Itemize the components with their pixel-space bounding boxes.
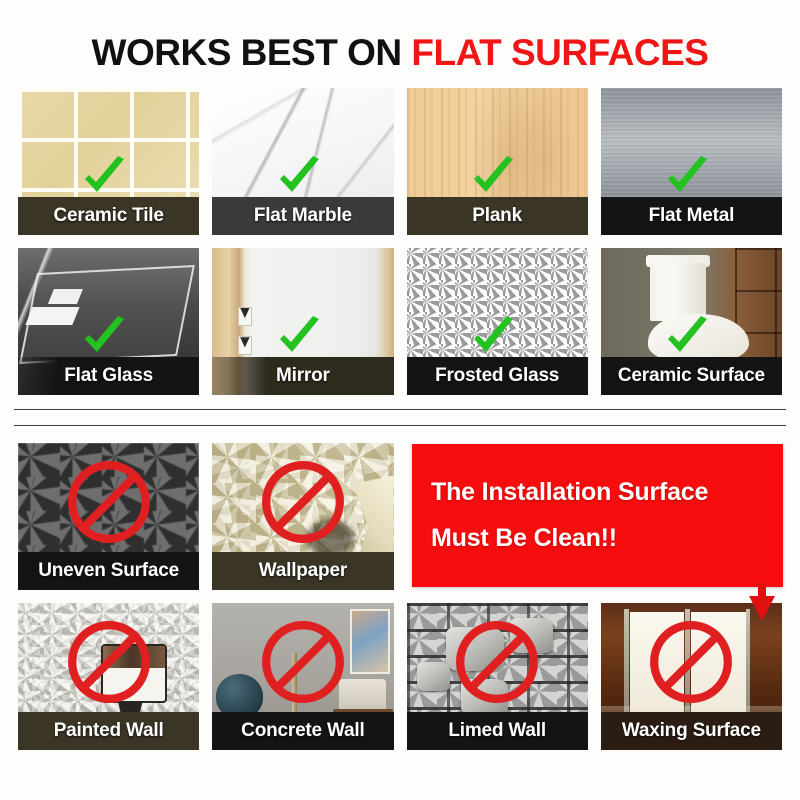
- surface-tile-flat-glass: Flat Glass: [18, 248, 199, 395]
- glass-highlight: [48, 289, 83, 304]
- good-surfaces-row-2: Flat Glass Mirror Frosted Glass: [18, 248, 782, 395]
- surface-tile-label: Waxing Surface: [601, 712, 782, 750]
- surface-tile-concrete-wall: Concrete Wall: [212, 603, 393, 750]
- installation-warning-banner: The Installation Surface Must Be Clean!!: [412, 444, 783, 587]
- infographic-page: WORKS BEST ON FLAT SURFACES Ceramic Tile…: [0, 0, 800, 800]
- warning-line-2: Must Be Clean!!: [431, 524, 764, 553]
- surface-tile-label: Uneven Surface: [18, 552, 199, 590]
- surface-tile-label: Limed Wall: [407, 712, 588, 750]
- good-surfaces-row-1: Ceramic Tile Flat Marble Plank Flat Meta…: [18, 88, 782, 235]
- green-check-icon: [78, 311, 130, 363]
- surface-tile-painted-wall: Painted Wall: [18, 603, 199, 750]
- page-title-lead: WORKS BEST ON: [92, 32, 412, 73]
- mirror-clip: [238, 336, 253, 355]
- red-prohibition-icon: [257, 616, 349, 708]
- warning-line-1: The Installation Surface: [431, 478, 764, 507]
- red-prohibition-icon: [451, 616, 543, 708]
- surface-tile-wallpaper: Wallpaper: [212, 443, 393, 590]
- bad-surfaces-row-2: Painted Wall Concrete Wall: [18, 603, 782, 750]
- green-check-icon: [273, 311, 325, 363]
- surface-tile-mirror: Mirror: [212, 248, 393, 395]
- red-prohibition-icon: [63, 456, 155, 548]
- window-mullion: [624, 609, 629, 721]
- surface-tile-ceramic-surface: Ceramic Surface: [601, 248, 782, 395]
- green-check-icon: [467, 311, 519, 363]
- surface-tile-waxing-surface: Waxing Surface: [601, 603, 782, 750]
- glass-highlight: [25, 307, 79, 325]
- red-prohibition-icon: [645, 616, 737, 708]
- surface-tile-frosted-glass: Frosted Glass: [407, 248, 588, 395]
- green-check-icon: [78, 151, 130, 203]
- surface-tile-plank: Plank: [407, 88, 588, 235]
- green-check-icon: [661, 311, 713, 363]
- window-mullion: [746, 609, 751, 721]
- page-title: WORKS BEST ON FLAT SURFACES: [0, 32, 800, 74]
- surface-tile-uneven-surface: Uneven Surface: [18, 443, 199, 590]
- red-prohibition-icon: [63, 616, 155, 708]
- green-check-icon: [467, 151, 519, 203]
- surface-tile-flat-metal: Flat Metal: [601, 88, 782, 235]
- red-prohibition-icon: [257, 456, 349, 548]
- surface-tile-label: Concrete Wall: [212, 712, 393, 750]
- green-check-icon: [661, 151, 713, 203]
- wall-stone: [417, 662, 450, 691]
- section-divider-top: [14, 409, 786, 410]
- page-title-emphasis: FLAT SURFACES: [411, 32, 708, 73]
- green-check-icon: [273, 151, 325, 203]
- surface-tile-label: Painted Wall: [18, 712, 199, 750]
- red-down-arrow-icon: [749, 583, 775, 621]
- surface-tile-flat-marble: Flat Marble: [212, 88, 393, 235]
- wall-picture-frame: [350, 609, 390, 674]
- surface-tile-ceramic-tile: Ceramic Tile: [18, 88, 199, 235]
- surface-tile-label: Wallpaper: [212, 552, 393, 590]
- mirror-clip: [238, 307, 253, 326]
- section-divider-bottom: [14, 425, 786, 426]
- surface-tile-limed-wall: Limed Wall: [407, 603, 588, 750]
